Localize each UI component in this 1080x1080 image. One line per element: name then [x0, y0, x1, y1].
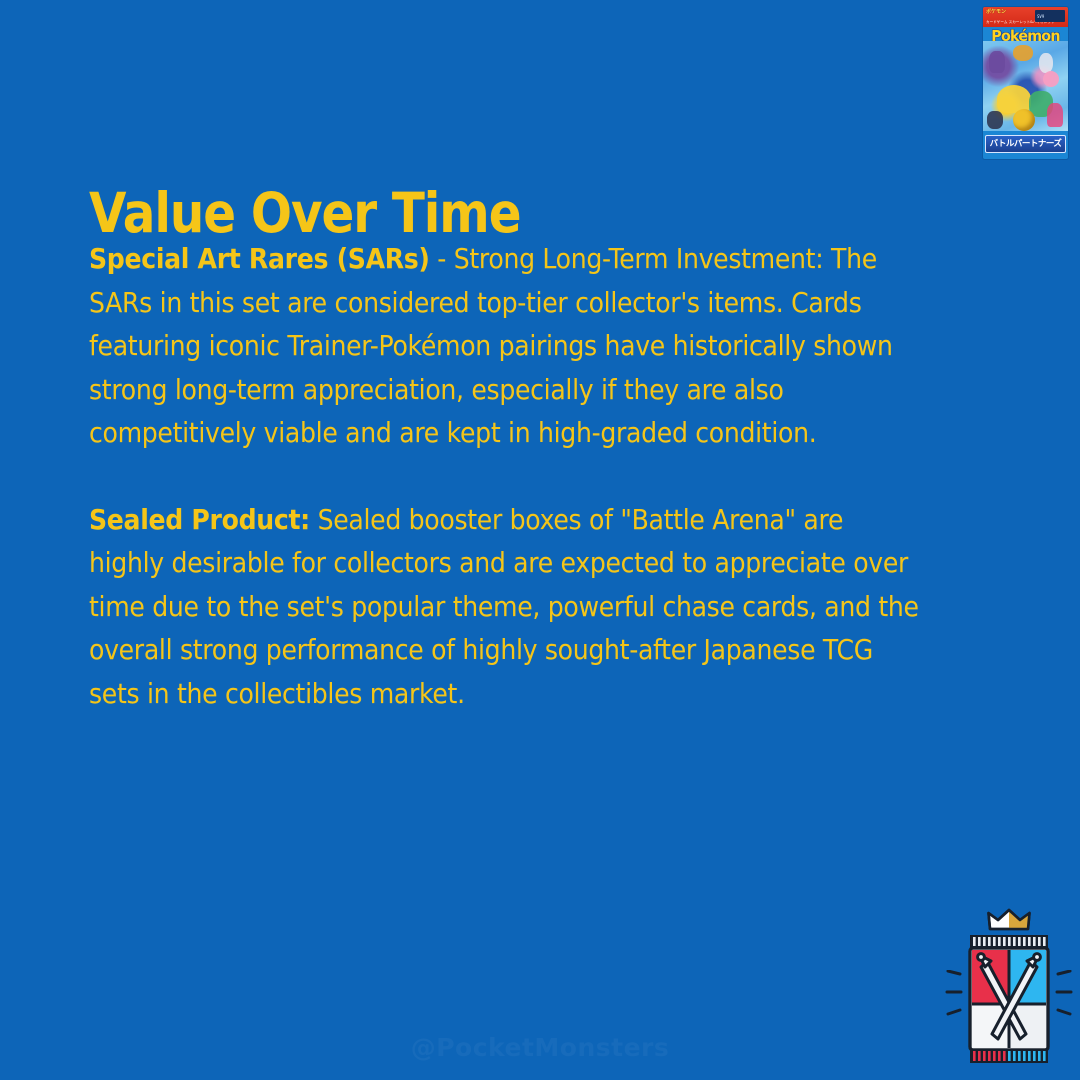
paragraph-sealed-product: Sealed Product: Sealed booster boxes of …	[89, 499, 923, 717]
pack-top-fringe	[970, 935, 1048, 948]
sparkle-lines-left-icon	[944, 970, 966, 1016]
art-blob	[1047, 103, 1063, 127]
body-copy: Special Art Rares (SARs) - Strong Long-T…	[89, 238, 923, 716]
art-blob	[1039, 53, 1053, 73]
pack-header-band: ポケモン カードゲーム スカーレット&バイオレット SV9	[983, 7, 1068, 27]
art-blob	[989, 51, 1005, 73]
pack-barcode: SV9	[1035, 10, 1065, 22]
art-blob	[987, 111, 1003, 129]
sparkle-lines-right-icon	[1052, 970, 1074, 1016]
pack-header-jp-line-1: ポケモン	[986, 9, 1006, 15]
paragraph-sars: Special Art Rares (SARs) - Strong Long-T…	[89, 238, 923, 456]
watermark: @PocketMonsters	[0, 1033, 1080, 1062]
pack-set-name-label: バトルパートナーズ	[985, 135, 1066, 153]
art-blob	[1013, 109, 1035, 131]
pack-barcode-text: SV9	[1037, 14, 1044, 19]
paragraph-sars-lead: Special Art Rares (SARs)	[89, 243, 430, 275]
poster-canvas: Value Over Time Special Art Rares (SARs)…	[0, 0, 1080, 1080]
paragraph-sealed-product-lead: Sealed Product:	[89, 504, 310, 536]
page-title: Value Over Time	[89, 183, 793, 243]
art-blob	[1013, 45, 1033, 61]
crown-icon	[987, 908, 1031, 932]
pack-artwork	[983, 41, 1068, 131]
art-blob	[1043, 71, 1059, 87]
pokemon-booster-pack-image: ポケモン カードゲーム スカーレット&バイオレット SV9 Pokémon バト…	[983, 7, 1068, 159]
